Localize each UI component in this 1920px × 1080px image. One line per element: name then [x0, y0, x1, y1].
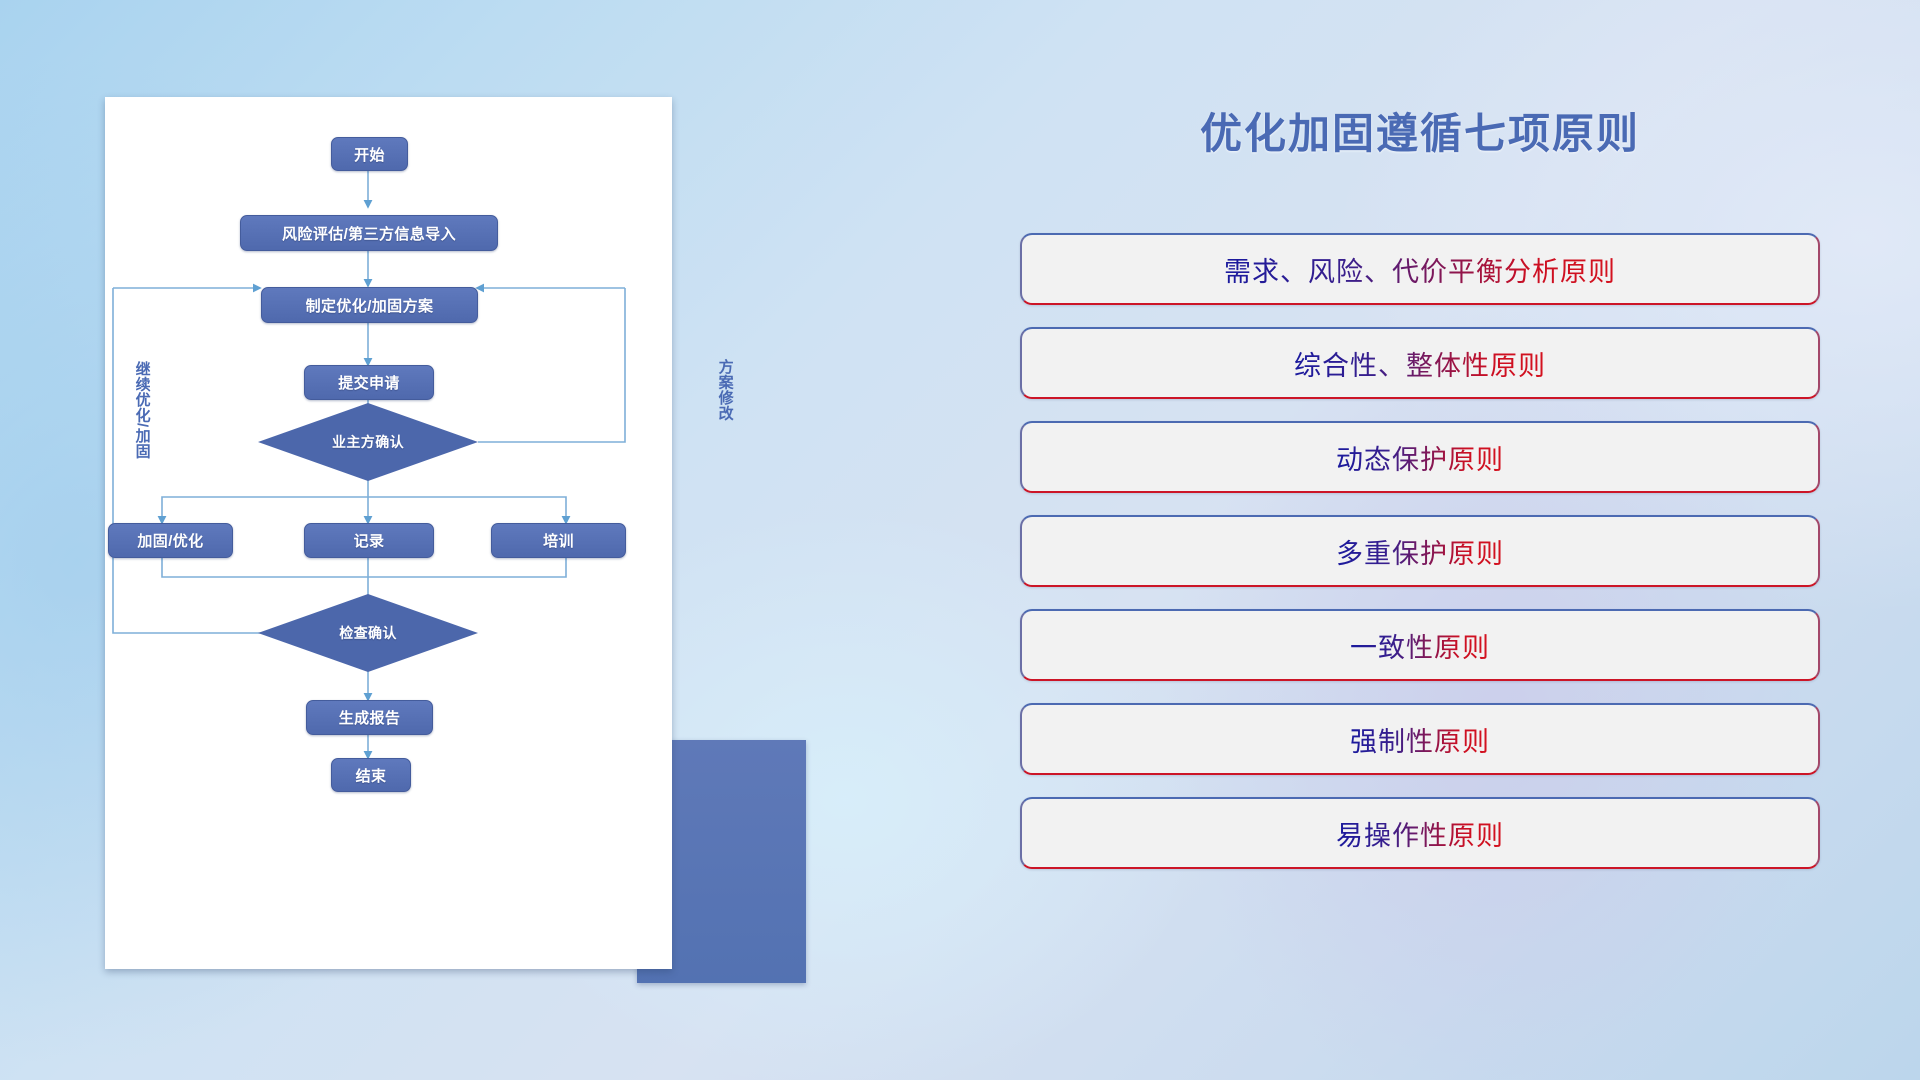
flow-label-continue-optimize: 继续优化/加固	[134, 361, 150, 459]
flow-node-record[interactable]: 记录	[304, 523, 434, 558]
flow-node-owner-confirm[interactable]: 业主方确认	[258, 403, 478, 481]
slide-canvas: 继续优化/加固 方案修改 开始 风险评估/第三方信息导入 制定优化/加固方案 提…	[0, 0, 1920, 1080]
flow-node-check-confirm[interactable]: 检查确认	[258, 594, 478, 672]
flow-node-reinforce[interactable]: 加固/优化	[108, 523, 233, 558]
flow-node-owner-confirm-label: 业主方确认	[258, 403, 478, 481]
flowchart-card: 继续优化/加固 方案修改 开始 风险评估/第三方信息导入 制定优化/加固方案 提…	[105, 97, 672, 969]
flow-node-start[interactable]: 开始	[331, 137, 408, 171]
flow-node-risk-assessment[interactable]: 风险评估/第三方信息导入	[240, 215, 498, 251]
principle-label: 多重保护原则	[1336, 532, 1504, 571]
principle-item[interactable]: 强制性原则	[1020, 703, 1820, 775]
panel-title: 优化加固遵循七项原则	[1020, 100, 1820, 161]
principle-item[interactable]: 动态保护原则	[1020, 421, 1820, 493]
principle-label: 强制性原则	[1350, 720, 1490, 759]
principle-label: 综合性、整体性原则	[1294, 344, 1546, 383]
flow-label-plan-revision: 方案修改	[717, 359, 733, 421]
principle-item[interactable]: 多重保护原则	[1020, 515, 1820, 587]
principle-item[interactable]: 综合性、整体性原则	[1020, 327, 1820, 399]
flow-node-end[interactable]: 结束	[331, 758, 411, 792]
flow-node-plan[interactable]: 制定优化/加固方案	[261, 287, 478, 323]
principle-item[interactable]: 需求、风险、代价平衡分析原则	[1020, 233, 1820, 305]
principle-label: 易操作性原则	[1336, 814, 1504, 853]
flow-node-report[interactable]: 生成报告	[306, 700, 433, 735]
principle-label: 需求、风险、代价平衡分析原则	[1224, 250, 1616, 289]
flow-node-check-confirm-label: 检查确认	[258, 594, 478, 672]
principles-panel: 优化加固遵循七项原则 需求、风险、代价平衡分析原则 综合性、整体性原则 动态保护…	[1020, 100, 1820, 891]
principle-item[interactable]: 一致性原则	[1020, 609, 1820, 681]
flow-node-submit[interactable]: 提交申请	[304, 365, 434, 400]
principle-label: 动态保护原则	[1336, 438, 1504, 477]
principle-label: 一致性原则	[1350, 626, 1490, 665]
flow-node-training[interactable]: 培训	[491, 523, 626, 558]
principle-item[interactable]: 易操作性原则	[1020, 797, 1820, 869]
